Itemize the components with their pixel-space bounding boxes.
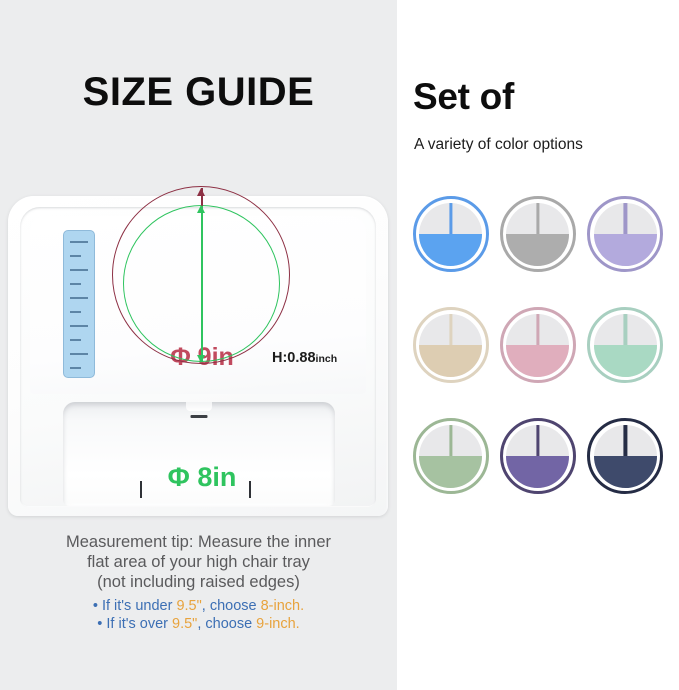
height-unit: inch bbox=[316, 353, 338, 365]
measurement-tip: Measurement tip: Measure the inner flat … bbox=[18, 532, 379, 592]
rule-choice: 9-inch. bbox=[256, 616, 300, 632]
swatch-fill bbox=[594, 234, 657, 266]
rule-text-mid: , choose bbox=[202, 598, 261, 614]
color-swatch-blue[interactable] bbox=[413, 196, 489, 272]
tray-notch bbox=[186, 402, 212, 411]
rule-choice: 8-inch. bbox=[261, 598, 305, 614]
tip-line-3: (not including raised edges) bbox=[18, 572, 379, 592]
rule-measure: 9.5" bbox=[176, 598, 201, 614]
swatch-body bbox=[506, 314, 569, 377]
color-options-panel: Set of A variety of color options bbox=[397, 0, 679, 690]
inner-diameter-label: Φ 8in bbox=[112, 462, 292, 493]
tip-line-2: flat area of your high chair tray bbox=[18, 552, 379, 572]
swatch-divider bbox=[624, 425, 627, 457]
swatch-fill bbox=[506, 345, 569, 377]
rule-measure: 9.5" bbox=[172, 616, 197, 632]
list-item: • If it's over 9.5", choose 9-inch. bbox=[18, 615, 379, 633]
swatch-body bbox=[594, 425, 657, 488]
rule-text-pre: If it's over bbox=[102, 616, 172, 632]
swatch-divider bbox=[449, 425, 452, 457]
swatch-divider bbox=[449, 314, 452, 346]
swatch-fill bbox=[419, 456, 482, 488]
rule-text-mid: , choose bbox=[197, 616, 256, 632]
color-swatch-beige[interactable] bbox=[413, 307, 489, 383]
swatch-divider bbox=[536, 425, 539, 457]
swatch-fill bbox=[419, 345, 482, 377]
color-swatch-navy[interactable] bbox=[587, 418, 663, 494]
swatch-body bbox=[419, 425, 482, 488]
rule-text-pre: If it's under bbox=[98, 598, 177, 614]
list-item: • If it's under 9.5", choose 8-inch. bbox=[18, 597, 379, 615]
color-swatch-lilac[interactable] bbox=[587, 196, 663, 272]
swatch-fill bbox=[419, 234, 482, 266]
inner-diameter-arrow bbox=[201, 206, 203, 362]
swatch-body bbox=[594, 314, 657, 377]
color-swatch-grid bbox=[407, 196, 669, 494]
color-swatch-purple[interactable] bbox=[500, 418, 576, 494]
swatch-fill bbox=[594, 456, 657, 488]
swatch-body bbox=[419, 203, 482, 266]
height-label: H:0.88inch bbox=[272, 350, 337, 366]
color-swatch-gray[interactable] bbox=[500, 196, 576, 272]
swatch-body bbox=[419, 314, 482, 377]
swatch-fill bbox=[506, 234, 569, 266]
diameter-diagram: Φ 9in Φ 8in bbox=[112, 186, 292, 382]
color-swatch-mint[interactable] bbox=[587, 307, 663, 383]
page-title: SIZE GUIDE bbox=[0, 70, 397, 115]
swatch-fill bbox=[594, 345, 657, 377]
set-of-title: Set of bbox=[413, 76, 514, 118]
swatch-divider bbox=[449, 203, 452, 235]
height-value: H:0.88 bbox=[272, 350, 316, 366]
swatch-body bbox=[506, 203, 569, 266]
swatch-body bbox=[506, 425, 569, 488]
sizing-rules: • If it's under 9.5", choose 8-inch. • I… bbox=[18, 597, 379, 633]
swatch-divider bbox=[536, 203, 539, 235]
swatch-divider bbox=[624, 314, 627, 346]
swatch-body bbox=[594, 203, 657, 266]
size-guide-panel: SIZE GUIDE bbox=[0, 0, 397, 690]
tray-dash-mark bbox=[191, 415, 208, 418]
infographic-page: SIZE GUIDE bbox=[0, 0, 679, 690]
tip-line-1: Measurement tip: Measure the inner bbox=[18, 532, 379, 552]
color-swatch-sage[interactable] bbox=[413, 418, 489, 494]
swatch-divider bbox=[624, 203, 627, 235]
color-swatch-pink[interactable] bbox=[500, 307, 576, 383]
ruler-icon bbox=[63, 230, 95, 378]
set-of-subtitle: A variety of color options bbox=[414, 136, 583, 154]
swatch-divider bbox=[536, 314, 539, 346]
swatch-fill bbox=[506, 456, 569, 488]
